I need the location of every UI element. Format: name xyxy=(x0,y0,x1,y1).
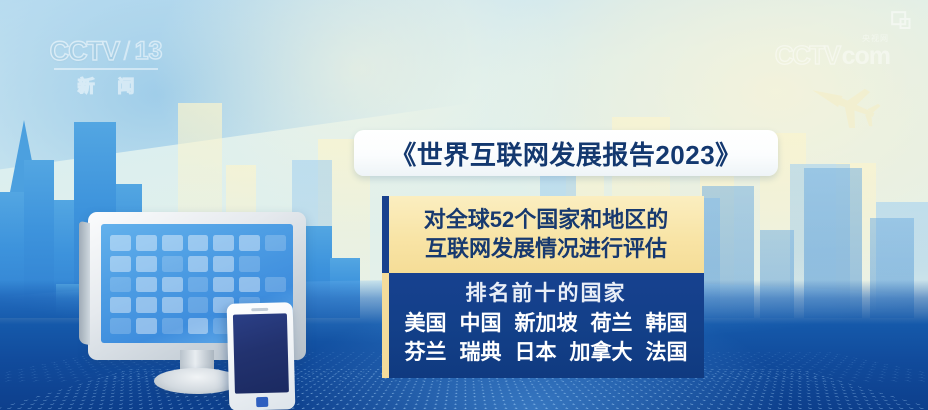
info-panel: 对全球52个国家和地区的 互联网发展情况进行评估 排名前十的国家 美国 中国 新… xyxy=(382,196,704,378)
news-graphic-stage: CCTV / 13 新 闻 央视网 CCTV com 《世界互联网发展报告202… xyxy=(0,0,928,410)
cctv-com-chinese-label: 央视网 xyxy=(862,33,889,44)
ranking-block: 排名前十的国家 美国 中国 新加坡 荷兰 韩国 芬兰 瑞典 日本 加拿大 法国 xyxy=(382,273,704,377)
cctv13-logo-row: CCTV / 13 xyxy=(47,36,165,67)
summary-line-2: 互联网发展情况进行评估 xyxy=(398,234,694,263)
country-item: 美国 xyxy=(405,310,447,339)
country-item: 芬兰 xyxy=(405,339,447,368)
page-title: 《世界互联网发展报告2023》 xyxy=(390,135,741,172)
cctv-com-watermark: 央视网 CCTV com xyxy=(775,40,890,71)
cctv-com-domain-text: com xyxy=(842,42,890,71)
country-item: 新加坡 xyxy=(515,310,578,339)
phone-speaker xyxy=(251,308,268,311)
overlapping-squares-icon[interactable] xyxy=(891,11,911,30)
report-title-banner: 《世界互联网发展报告2023》 xyxy=(354,130,778,176)
country-item: 法国 xyxy=(646,339,688,368)
country-row-1: 美国 中国 新加坡 荷兰 韩国 xyxy=(398,310,694,339)
cctv13-channel-number: 13 xyxy=(135,37,163,66)
summary-line-1: 对全球52个国家和地区的 xyxy=(398,205,694,234)
cctv-wordmark: CCTV xyxy=(50,36,120,67)
cctv13-logo: CCTV / 13 新 闻 xyxy=(47,36,165,97)
country-item: 加拿大 xyxy=(570,339,633,368)
country-item: 韩国 xyxy=(646,310,688,339)
smartphone-graphic xyxy=(227,302,296,410)
summary-block: 对全球52个国家和地区的 互联网发展情况进行评估 xyxy=(382,196,704,273)
country-item: 荷兰 xyxy=(591,310,633,339)
monitor-base xyxy=(154,368,240,394)
country-item: 日本 xyxy=(515,339,557,368)
country-item: 中国 xyxy=(460,310,502,339)
country-item: 瑞典 xyxy=(460,339,502,368)
cctv13-separator: / xyxy=(123,36,131,67)
phone-home-button xyxy=(256,397,268,407)
cctv13-channel-name: 新 闻 xyxy=(47,72,165,97)
cctv-com-cctv-text: CCTV xyxy=(775,40,840,71)
country-row-2: 芬兰 瑞典 日本 加拿大 法国 xyxy=(398,339,694,368)
phone-screen xyxy=(233,313,289,393)
cctv13-underline xyxy=(54,68,158,70)
cctv-com-wordmark: CCTV com xyxy=(775,40,890,71)
ranking-heading: 排名前十的国家 xyxy=(398,278,694,310)
airplane-icon xyxy=(806,78,882,128)
